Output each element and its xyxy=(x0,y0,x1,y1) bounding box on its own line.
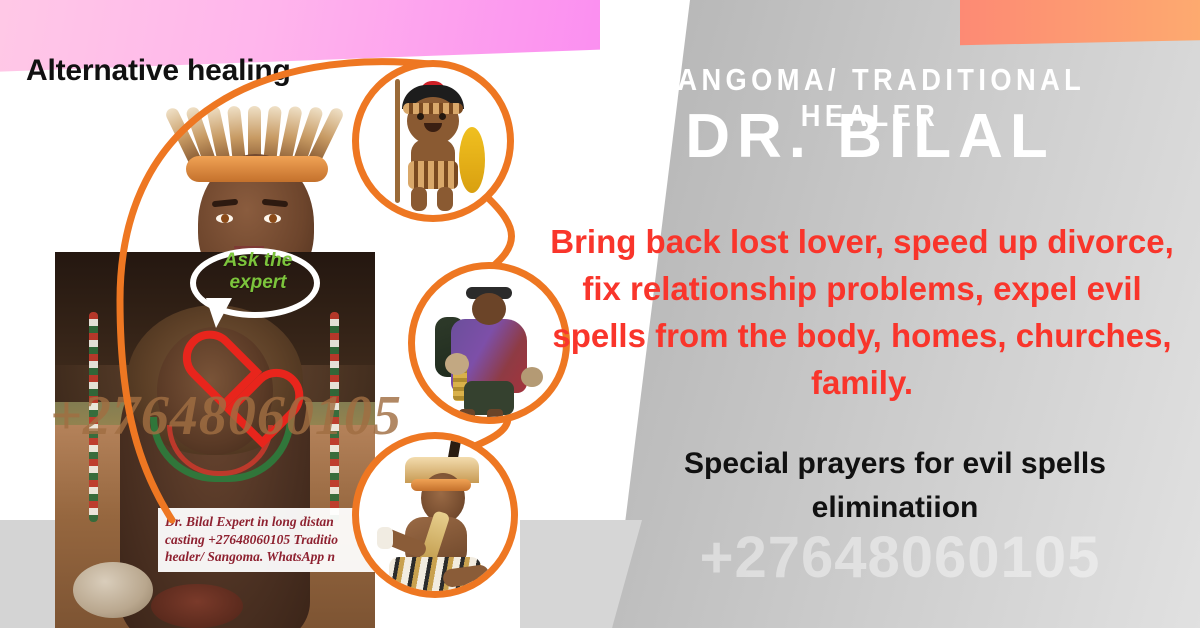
bundle-left xyxy=(445,353,469,375)
photo-phone-watermark: +27648060105 xyxy=(50,384,402,448)
warrior-headband xyxy=(403,103,463,114)
warrior-leg-right xyxy=(437,187,453,211)
ask-the-expert-label: Ask the expert xyxy=(203,250,313,294)
traveler-foot-left xyxy=(459,409,475,421)
orange-accent-bar xyxy=(960,0,1200,45)
clay-pot xyxy=(73,562,153,618)
advertisement-poster: Alternative healing xyxy=(0,0,1200,628)
circle-badge-kneeling-sangoma xyxy=(352,432,518,598)
spear-icon xyxy=(395,79,400,203)
services-copy: Bring back lost lover, speed up divorce,… xyxy=(538,218,1186,406)
eye-left xyxy=(216,214,233,223)
warrior-eye-right xyxy=(439,113,446,120)
eye-right xyxy=(264,214,281,223)
crown-band xyxy=(411,479,471,491)
headband xyxy=(186,156,328,182)
special-prayers-copy: Special prayers for evil spells eliminat… xyxy=(600,442,1190,530)
panel-phone-watermark: +27648060105 xyxy=(600,524,1200,591)
warrior-skirt xyxy=(408,161,458,189)
warrior-leg-left xyxy=(411,187,427,211)
traveler-head xyxy=(472,293,506,325)
circle-badge-warrior xyxy=(352,60,514,222)
shield-icon xyxy=(459,127,485,193)
page-title: Alternative healing xyxy=(26,54,291,88)
dark-pot xyxy=(151,584,243,628)
headline-title: DR. BILAL xyxy=(560,104,1180,170)
arm-band xyxy=(377,527,393,549)
warrior-eye-left xyxy=(417,113,424,120)
traveler-foot-right xyxy=(487,409,503,421)
